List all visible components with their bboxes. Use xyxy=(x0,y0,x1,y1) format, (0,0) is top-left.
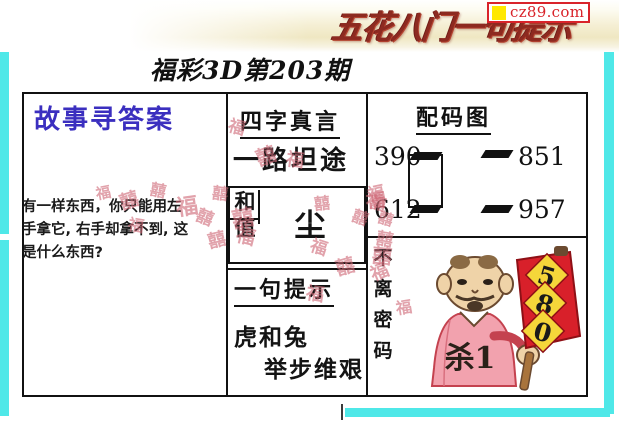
story-body-line-3: 是什么东西? xyxy=(22,242,222,265)
story-heading: 故事寻答案 xyxy=(34,103,224,137)
four-char-value: 一路坦途 xyxy=(233,143,363,179)
cartoon-ear-right xyxy=(499,274,513,294)
cartoon-ear-left xyxy=(437,274,451,294)
hezhi-label-top: 和 xyxy=(235,189,256,214)
story-body-line-1: 有一样东西，你只能用左 xyxy=(22,196,222,219)
vertical-code-char-2: 密 xyxy=(370,305,396,336)
cartoon-hair-left xyxy=(450,255,470,269)
yellow-square-icon xyxy=(492,6,506,20)
peima-box-left-edge xyxy=(408,156,410,208)
hezhi-divider-horizontal xyxy=(228,218,258,220)
peima-arrow-top-left-icon xyxy=(410,152,443,160)
vertical-code-char-1: 离 xyxy=(370,274,396,305)
peima-box-right-edge xyxy=(441,154,443,206)
page-root: 五花八门一句提示 cz89.com 福彩3D第203期 故事寻答案 有一样东西，… xyxy=(0,0,619,434)
page-title: 福彩3D第203期 xyxy=(150,56,470,86)
hezhi-label: 和 值 xyxy=(232,189,258,241)
frame-accent-left-upper xyxy=(0,52,9,234)
banner-top-knob xyxy=(554,246,568,256)
bottom-tick-mark xyxy=(341,404,343,420)
hezhi-value: 尘 xyxy=(280,206,340,246)
watermark-badge: cz89.com xyxy=(487,2,590,23)
cartoon-illustration: 5 8 0 杀1 xyxy=(420,240,595,395)
cartoon-hair-right xyxy=(478,255,498,269)
four-char-heading: 四字真言 xyxy=(240,104,340,139)
story-body: 有一样东西，你只能用左 手拿它, 右手却拿不到, 这 是什么东西? xyxy=(22,196,222,265)
column-separator-right xyxy=(366,92,368,397)
peima-arrow-bottom-left-icon xyxy=(410,205,443,213)
cartoon-eye-left xyxy=(457,279,467,285)
story-body-line-2: 手拿它, 右手却拿不到, 这 xyxy=(22,219,222,242)
peima-arrow-top-right-icon xyxy=(481,150,514,158)
vertical-code-char-3: 码 xyxy=(370,336,396,367)
frame-accent-bottom xyxy=(345,408,610,417)
one-hint-heading: 一句提示 xyxy=(234,272,334,307)
row-separator-middle xyxy=(226,268,366,270)
peima-number-bottom-right: 957 xyxy=(518,196,566,224)
peima-number-top-right: 851 xyxy=(518,143,566,171)
peima-arrow-bottom-right-icon xyxy=(481,205,514,213)
vertical-code-text: 不 离 密 码 xyxy=(370,243,396,367)
header-banner-fade xyxy=(9,0,309,52)
hint-line-2: 举步维艰 xyxy=(264,350,364,384)
watermark-text: cz89.com xyxy=(510,4,584,21)
vertical-code-char-0: 不 xyxy=(370,243,396,274)
row-separator-right xyxy=(366,236,588,238)
cartoon-beard xyxy=(467,301,483,311)
cartoon-eye-right xyxy=(483,279,493,285)
frame-accent-right xyxy=(604,42,614,414)
peima-heading: 配码图 xyxy=(416,100,491,135)
hint-line-1: 虎和兔 xyxy=(234,318,309,352)
robe-text: 杀1 xyxy=(445,341,496,376)
hezhi-divider-vertical xyxy=(258,190,260,224)
frame-accent-left-lower xyxy=(0,240,9,416)
